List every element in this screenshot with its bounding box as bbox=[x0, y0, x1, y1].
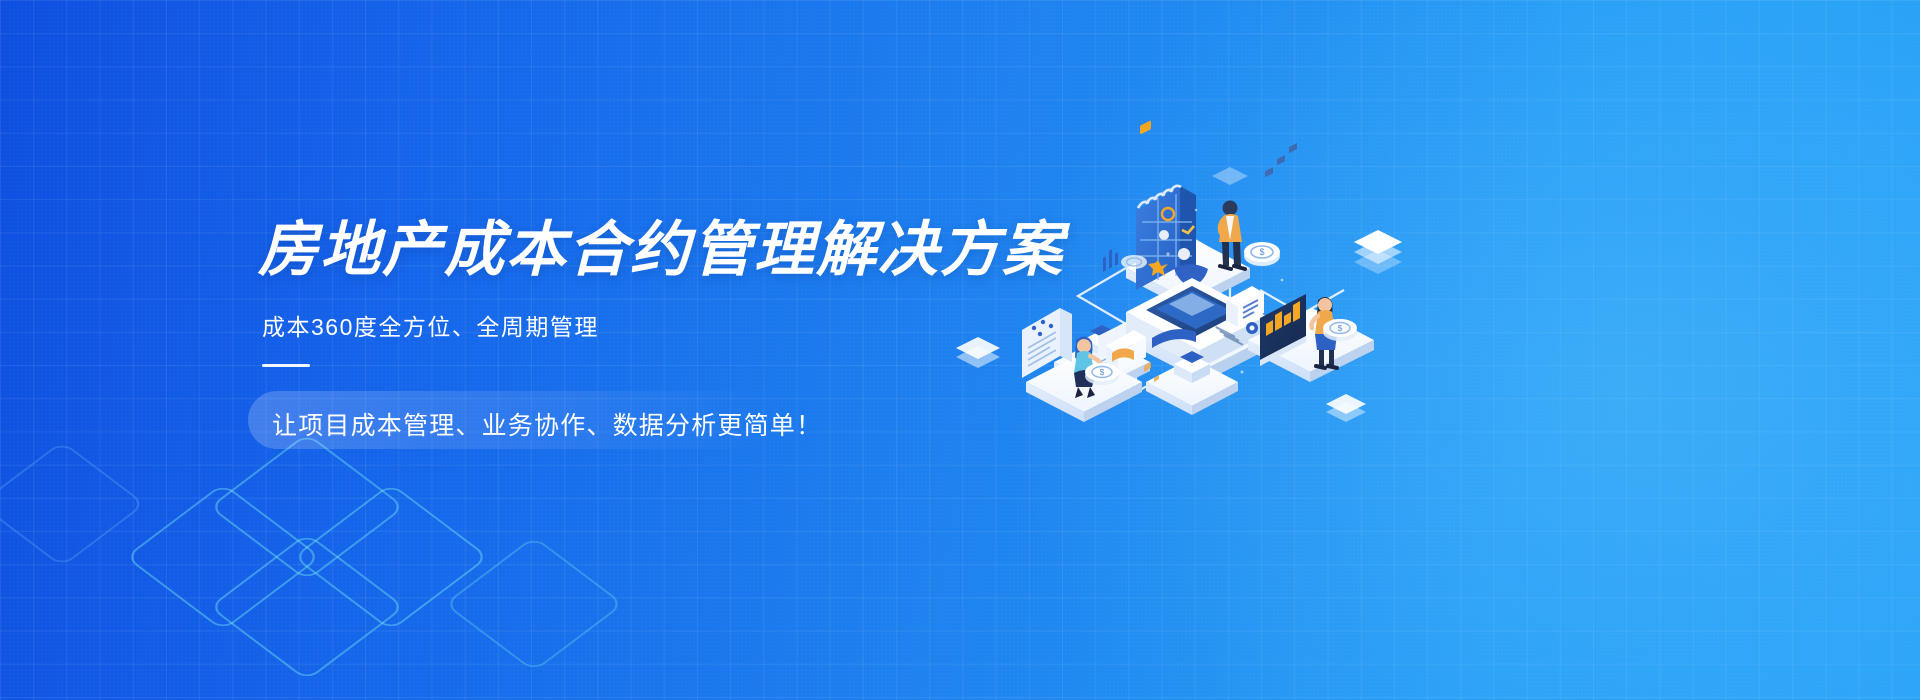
diamond-outline-icon bbox=[444, 536, 625, 672]
diamond-outline-icon bbox=[209, 433, 406, 581]
page-title: 房地产成本合约管理解决方案 bbox=[258, 218, 1018, 282]
svg-text:$: $ bbox=[1259, 247, 1264, 257]
diamond-outline-icon bbox=[293, 483, 490, 631]
dollar-coin-icon bbox=[1121, 255, 1147, 269]
layer-stack-icon bbox=[1354, 230, 1402, 274]
dollar-coin-icon: $ bbox=[1244, 242, 1280, 266]
layer-stack-icon bbox=[1212, 167, 1248, 185]
rounded-diamond-cluster bbox=[140, 430, 620, 700]
hero-banner: 房地产成本合约管理解决方案 成本360度全方位、全周期管理 让项目成本管理、业务… bbox=[0, 0, 1920, 700]
tagline-wrapper: 让项目成本管理、业务协作、数据分析更简单！ bbox=[262, 401, 832, 447]
svg-text:$: $ bbox=[1100, 367, 1105, 377]
svg-text:$: $ bbox=[1338, 323, 1343, 333]
page-subtitle: 成本360度全方位、全周期管理 bbox=[262, 308, 1018, 342]
dollar-coin-icon: $ bbox=[1085, 363, 1119, 385]
diamond-outline-icon bbox=[209, 533, 406, 681]
diamond-outline-icon bbox=[0, 441, 146, 567]
diamond-outline-icon bbox=[125, 483, 322, 631]
hero-illustration: $ $ $ bbox=[930, 150, 1420, 450]
dollar-coin-icon: $ bbox=[1323, 319, 1357, 341]
hero-tagline: 让项目成本管理、业务协作、数据分析更简单！ bbox=[262, 401, 832, 447]
layer-stack-icon bbox=[956, 337, 1000, 368]
layer-stack-icon bbox=[1326, 394, 1366, 422]
hero-copy: 房地产成本合约管理解决方案 成本360度全方位、全周期管理 让项目成本管理、业务… bbox=[258, 218, 1018, 447]
title-divider bbox=[262, 364, 310, 367]
